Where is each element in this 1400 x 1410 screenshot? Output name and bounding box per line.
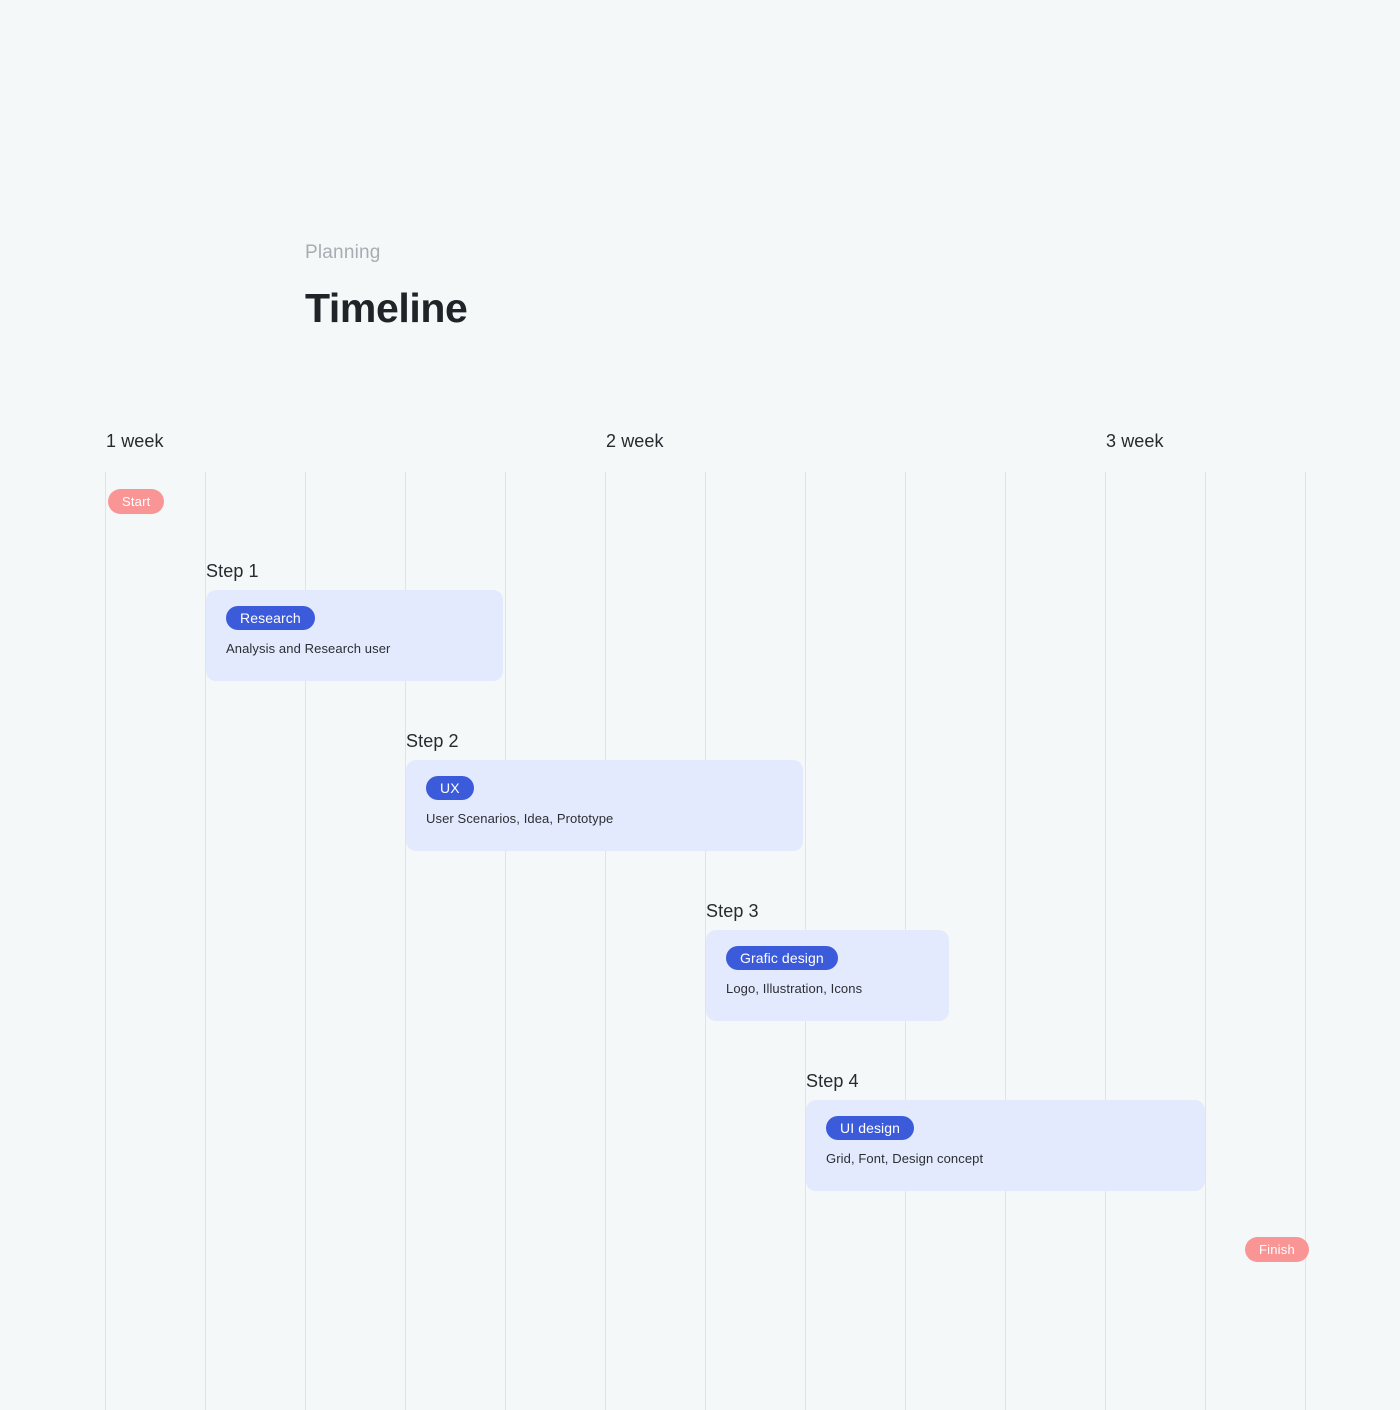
timeline-gridline <box>605 472 606 1410</box>
step-tag-1[interactable]: Research <box>226 606 315 630</box>
week-label-2: 2 week <box>606 431 664 452</box>
step-description-1: Analysis and Research user <box>226 641 503 656</box>
week-label-1: 1 week <box>106 431 164 452</box>
step-label-1: Step 1 <box>206 561 259 582</box>
step-card-3[interactable]: Grafic designLogo, Illustration, Icons <box>706 930 949 1021</box>
step-description-3: Logo, Illustration, Icons <box>726 981 949 996</box>
timeline-gridline <box>1205 472 1206 1410</box>
step-label-4: Step 4 <box>806 1071 859 1092</box>
milestone-finish[interactable]: Finish <box>1245 1237 1309 1262</box>
milestone-start[interactable]: Start <box>108 489 164 514</box>
step-tag-2[interactable]: UX <box>426 776 474 800</box>
step-card-2[interactable]: UXUser Scenarios, Idea, Prototype <box>406 760 803 851</box>
timeline-gridline <box>105 472 106 1410</box>
step-card-1[interactable]: ResearchAnalysis and Research user <box>206 590 503 681</box>
timeline-gridline <box>1005 472 1006 1410</box>
week-label-3: 3 week <box>1106 431 1164 452</box>
timeline-gridline <box>505 472 506 1410</box>
step-description-4: Grid, Font, Design concept <box>826 1151 1205 1166</box>
step-card-4[interactable]: UI designGrid, Font, Design concept <box>806 1100 1205 1191</box>
timeline-gridline <box>1305 472 1306 1410</box>
timeline-gridline <box>1105 472 1106 1410</box>
step-tag-4[interactable]: UI design <box>826 1116 914 1140</box>
step-label-2: Step 2 <box>406 731 459 752</box>
timeline-chart: 1 week2 week3 weekStartFinishStep 1Resea… <box>0 0 1400 1410</box>
step-description-2: User Scenarios, Idea, Prototype <box>426 811 803 826</box>
step-label-3: Step 3 <box>706 901 759 922</box>
step-tag-3[interactable]: Grafic design <box>726 946 838 970</box>
